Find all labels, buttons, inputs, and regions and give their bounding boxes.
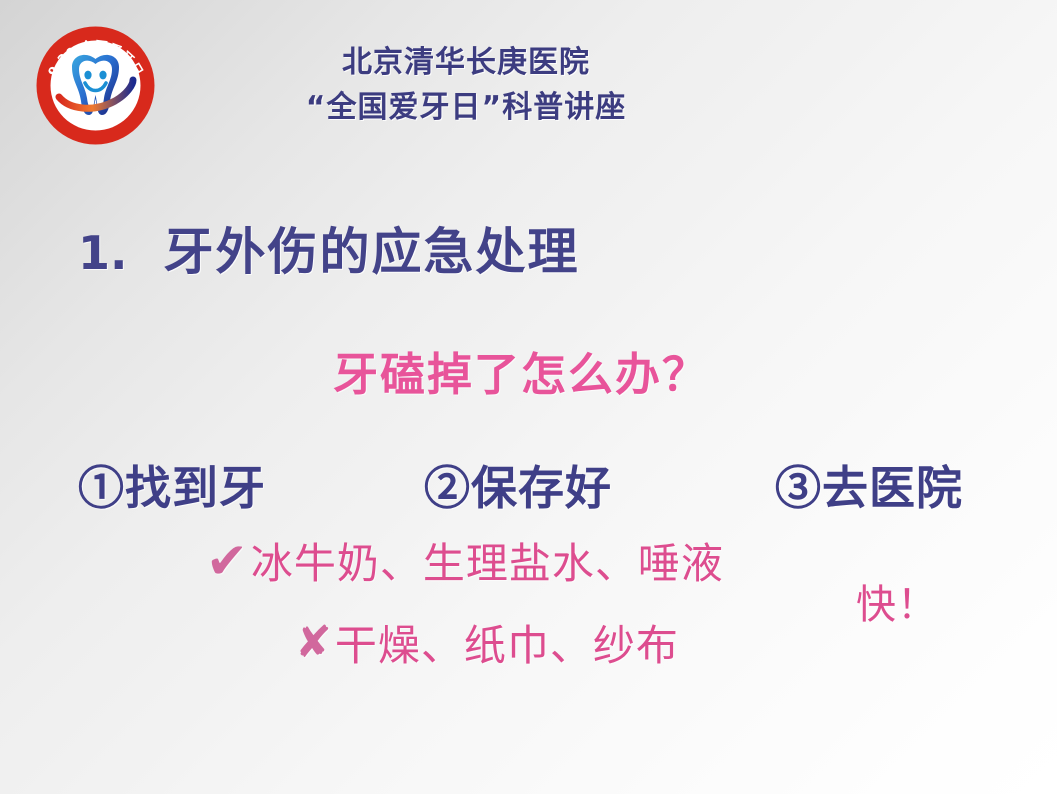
- page-title-text: 牙外伤的应急处理: [163, 212, 579, 284]
- step-item-go-hospital: ③去医院: [775, 452, 963, 518]
- emergency-steps-row: ①找到牙 ②保存好 ③去医院: [0, 452, 1057, 514]
- page-title: 1. 牙外伤的应急处理: [78, 212, 579, 284]
- header-title-block: 北京清华长庚医院 “全国爱牙日”科普讲座: [196, 40, 736, 130]
- recommended-media-text: 冰牛奶、生理盐水、唾液: [251, 530, 724, 591]
- slide-header: 9.20 全国爱牙日 Love Teeth Day 北京清: [0, 0, 1057, 170]
- section-question: 牙磕掉了怎么办？: [333, 338, 709, 403]
- urgency-note: 快！: [856, 572, 938, 630]
- page-title-number: 1.: [78, 226, 127, 280]
- discouraged-media-text: 干燥、纸巾、纱布: [335, 612, 679, 673]
- step-item-find-tooth: ①找到牙: [78, 452, 266, 518]
- slide-canvas: 9.20 全国爱牙日 Love Teeth Day 北京清: [0, 0, 1057, 794]
- recommended-media-line: ✔ 冰牛奶、生理盐水、唾液: [206, 530, 724, 591]
- lecture-series-name: “全国爱牙日”科普讲座: [196, 85, 736, 130]
- hospital-name: 北京清华长庚医院: [196, 40, 736, 85]
- check-mark-icon: ✔: [206, 536, 249, 586]
- cross-mark-icon: ✘: [295, 621, 333, 665]
- national-love-teeth-day-logo-icon: 9.20 全国爱牙日 Love Teeth Day: [35, 25, 156, 146]
- discouraged-media-line: ✘ 干燥、纸巾、纱布: [295, 612, 679, 673]
- step-item-store-tooth: ②保存好: [424, 452, 612, 518]
